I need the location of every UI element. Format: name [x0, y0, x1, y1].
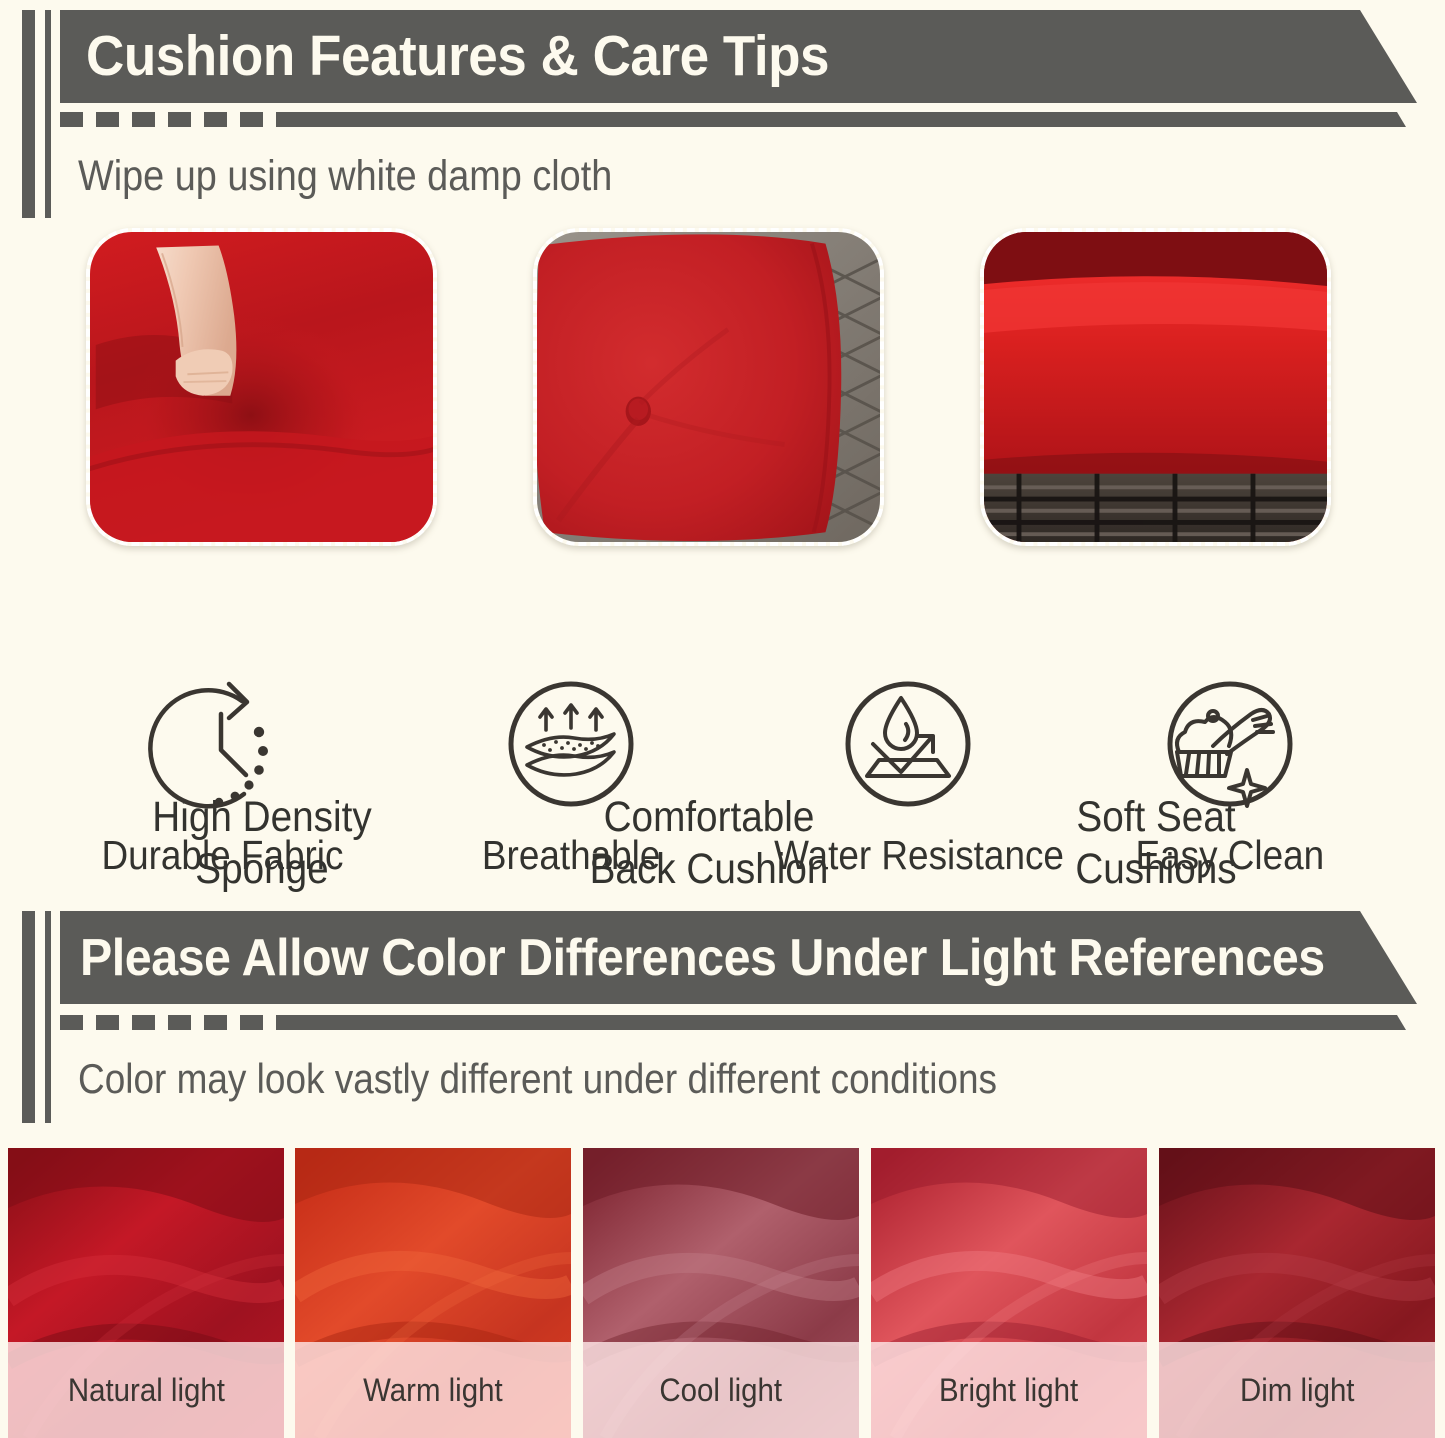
swatch-bright-light-band: Bright light — [871, 1342, 1147, 1438]
care-tips-banner-title: Cushion Features & Care Tips — [86, 28, 829, 85]
feature-card-row: High Density Sponge Comfortable Back Cus… — [0, 228, 1445, 558]
left-bar-thin — [45, 10, 51, 218]
feature-icon-row: Durable Fabric — [0, 672, 1445, 882]
dash-segment — [240, 1015, 263, 1030]
header-left-bars — [22, 10, 56, 218]
dash-segment — [168, 112, 191, 127]
dash-segment — [132, 112, 155, 127]
dash-segment — [240, 112, 263, 127]
swatch-cool-light-band: Cool light — [583, 1342, 859, 1438]
swatch-natural-light[interactable]: Natural light — [8, 1148, 284, 1438]
swatch-warm-light-band: Warm light — [295, 1342, 571, 1438]
swatch-cool-light[interactable]: Cool light — [583, 1148, 859, 1438]
swatch-cool-light-label: Cool light — [660, 1372, 783, 1409]
dash-segment — [132, 1015, 155, 1030]
breathable-icon — [496, 672, 646, 822]
feature-water-resistance-label: Water Resistance — [758, 834, 1058, 877]
dash-solid-bar — [276, 1015, 1406, 1030]
care-tips-header: Cushion Features & Care Tips Wipe up usi… — [0, 0, 1445, 228]
swatch-bright-light-label: Bright light — [939, 1372, 1078, 1409]
swatch-dim-light-label: Dim light — [1240, 1372, 1355, 1409]
easy-clean-icon — [1155, 672, 1305, 822]
care-tips-dash-row — [60, 112, 1420, 127]
feature-breathable[interactable]: Breathable — [421, 672, 721, 877]
swatch-warm-light-label: Warm light — [363, 1372, 503, 1409]
dash-segment — [168, 1015, 191, 1030]
high-density-sponge-image — [86, 228, 437, 546]
left-bar-thick — [22, 911, 35, 1123]
feature-card-high-density-sponge[interactable] — [86, 228, 437, 546]
feature-durable-fabric-label: Durable Fabric — [72, 834, 372, 877]
swatch-warm-light[interactable]: Warm light — [295, 1148, 571, 1438]
durable-fabric-icon — [147, 672, 297, 822]
color-swatch-row: Natural light Wa — [0, 1148, 1445, 1438]
color-differences-banner-title: Please Allow Color Differences Under Lig… — [80, 932, 1325, 984]
care-tips-subtitle: Wipe up using white damp cloth — [78, 155, 612, 198]
dash-segment — [204, 1015, 227, 1030]
dash-segment — [60, 112, 83, 127]
water-resistance-icon — [833, 672, 983, 822]
color-differences-dash-row — [60, 1015, 1420, 1030]
dash-segment — [96, 1015, 119, 1030]
feature-durable-fabric[interactable]: Durable Fabric — [72, 672, 372, 877]
swatch-dim-light[interactable]: Dim light — [1159, 1148, 1435, 1438]
header-left-bars — [22, 911, 56, 1123]
swatch-natural-light-label: Natural light — [67, 1372, 224, 1409]
swatch-natural-light-band: Natural light — [8, 1342, 284, 1438]
dash-segment — [96, 112, 119, 127]
feature-card-soft-seat-cushions[interactable] — [980, 228, 1331, 546]
feature-easy-clean-label: Easy Clean — [1080, 834, 1380, 877]
dash-segment — [204, 112, 227, 127]
swatch-bright-light[interactable]: Bright light — [871, 1148, 1147, 1438]
feature-water-resistance[interactable]: Water Resistance — [758, 672, 1058, 877]
left-bar-thin — [45, 911, 51, 1123]
dash-solid-bar — [276, 112, 1406, 127]
color-differences-header: Please Allow Color Differences Under Lig… — [0, 903, 1445, 1131]
left-bar-thick — [22, 10, 35, 218]
infographic-page: Cushion Features & Care Tips Wipe up usi… — [0, 0, 1445, 1438]
comfortable-back-cushion-image — [533, 228, 884, 546]
dash-segment — [60, 1015, 83, 1030]
soft-seat-cushions-image — [980, 228, 1331, 546]
feature-card-comfortable-back-cushion[interactable] — [533, 228, 884, 546]
color-differences-subtitle: Color may look vastly different under di… — [78, 1058, 997, 1100]
feature-breathable-label: Breathable — [421, 834, 721, 877]
swatch-dim-light-band: Dim light — [1159, 1342, 1435, 1438]
feature-easy-clean[interactable]: Easy Clean — [1080, 672, 1380, 877]
